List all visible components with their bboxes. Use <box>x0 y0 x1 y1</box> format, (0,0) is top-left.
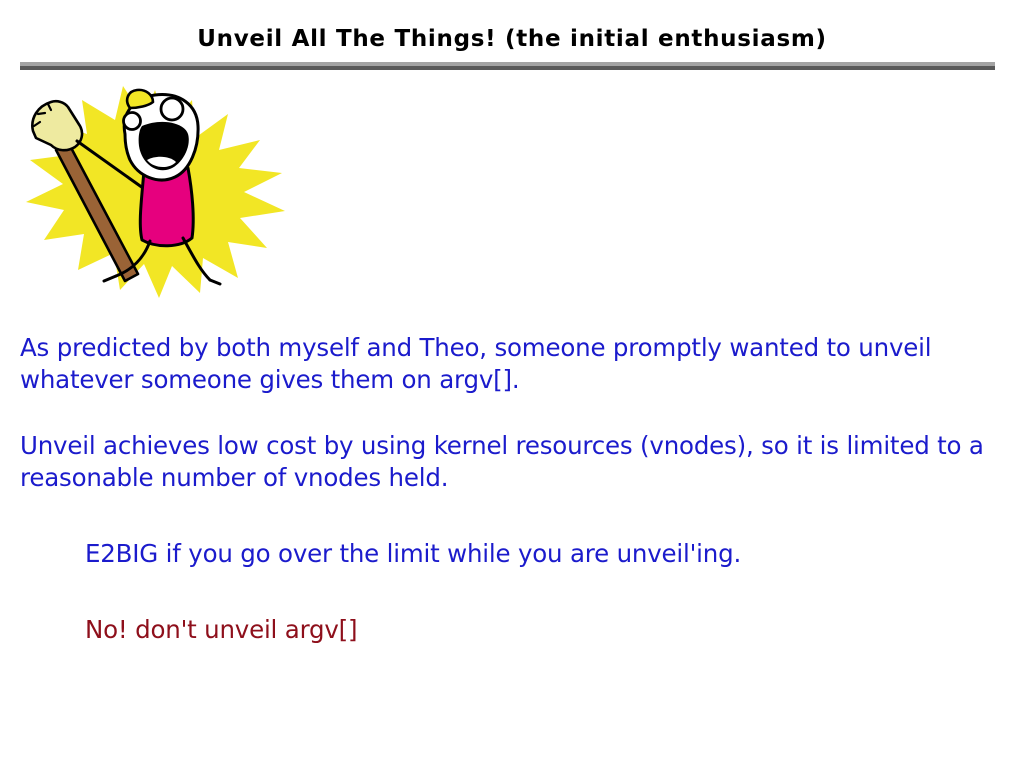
body-warning-line: No! don't unveil argv[] <box>0 614 1024 646</box>
right-eye-shape <box>161 98 183 120</box>
left-eye-shape <box>124 113 141 130</box>
slide-canvas: { "slide": { "title": "Unveil All The Th… <box>0 0 1024 768</box>
head-shape <box>124 90 199 180</box>
title-divider <box>20 62 995 70</box>
body-paragraph-1: As predicted by both myself and Theo, so… <box>0 332 1024 396</box>
page-title: Unveil All The Things! (the initial enth… <box>0 26 1024 52</box>
all-the-things-meme-image <box>20 78 290 303</box>
body-indented-line: E2BIG if you go over the limit while you… <box>0 538 1024 570</box>
slide-body: As predicted by both myself and Theo, so… <box>0 332 1024 646</box>
paragraph-spacer-1 <box>0 396 1024 430</box>
title-divider-bottom <box>20 66 995 70</box>
paragraph-spacer-2 <box>0 494 1024 538</box>
hair-shape <box>127 90 153 108</box>
paragraph-spacer-3 <box>0 570 1024 614</box>
body-paragraph-2: Unveil achieves low cost by using kernel… <box>0 430 1024 494</box>
